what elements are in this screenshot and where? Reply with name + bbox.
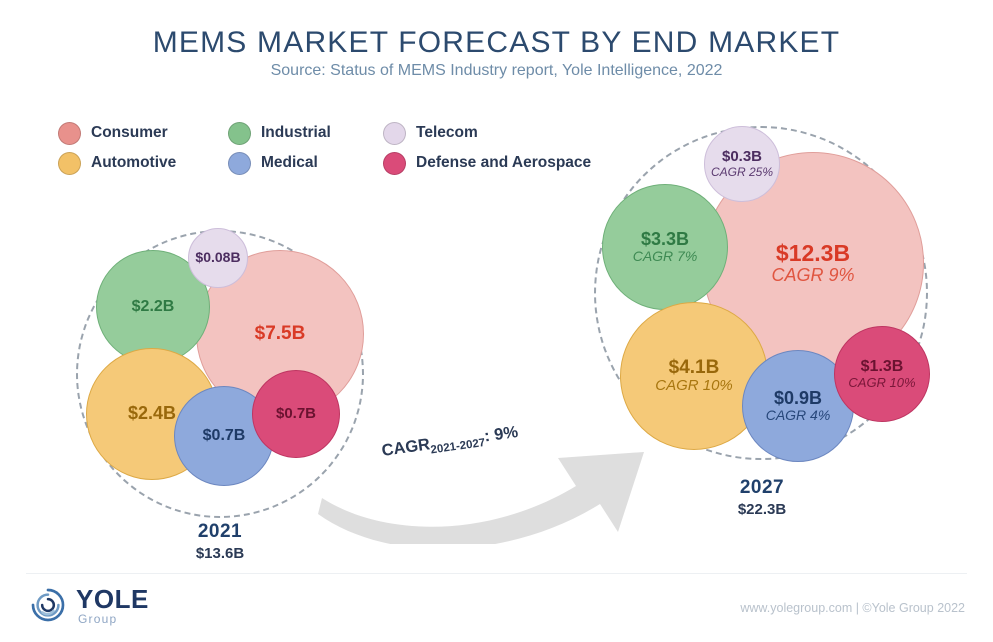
legend-label-consumer: Consumer xyxy=(91,124,168,142)
legend-label-telecom: Telecom xyxy=(416,124,478,142)
bubble-cagr-label: CAGR 9% xyxy=(771,266,854,285)
bubble-cagr-label: CAGR 25% xyxy=(711,166,773,179)
year-caption-2021: 2021 $13.6B xyxy=(130,521,310,562)
footer-divider xyxy=(26,573,967,574)
legend-item-telecom[interactable]: Telecom xyxy=(383,122,478,145)
bubble-cagr-label: CAGR 10% xyxy=(848,376,915,390)
yole-spiral-icon xyxy=(28,585,68,625)
bubble-value: $0.08B xyxy=(195,250,240,265)
infographic-canvas: MEMS MARKET FORECAST BY END MARKET Sourc… xyxy=(0,0,993,642)
year-total-2021: $13.6B xyxy=(130,545,310,562)
legend-swatch-industrial-icon xyxy=(228,122,251,145)
yole-logo-text: YOLE Group xyxy=(76,586,149,625)
legend-item-defense-and-aerospace[interactable]: Defense and Aerospace xyxy=(383,152,591,175)
bubble-2021-telecom[interactable]: $0.08B xyxy=(188,228,248,288)
legend-row-2: Automotive Medical Defense and Aerospace xyxy=(58,148,598,178)
legend-item-consumer[interactable]: Consumer xyxy=(58,122,228,145)
year-label-2021: 2021 xyxy=(130,521,310,543)
legend-row-1: Consumer Industrial Telecom xyxy=(58,118,598,148)
bubble-value: $7.5B xyxy=(255,324,306,345)
bubble-value: $2.2B xyxy=(132,298,175,315)
yole-logo-sub: Group xyxy=(78,613,149,625)
bubble-cagr-label: CAGR 10% xyxy=(655,378,733,394)
legend-item-industrial[interactable]: Industrial xyxy=(228,122,383,145)
bubble-value: $2.4B xyxy=(128,404,176,423)
legend-swatch-defense-icon xyxy=(383,152,406,175)
page-subtitle: Source: Status of MEMS Industry report, … xyxy=(0,62,993,80)
cagr-annotation-suffix: : 9% xyxy=(483,423,519,446)
bubble-cagr-label: CAGR 4% xyxy=(766,408,831,423)
bubble-cluster-2027: $12.3B CAGR 9% $3.3B CAGR 7% $4.1B CAGR … xyxy=(590,120,934,464)
legend-swatch-medical-icon xyxy=(228,152,251,175)
year-total-2027: $22.3B xyxy=(672,501,852,518)
legend-label-defense: Defense and Aerospace xyxy=(416,154,591,172)
yole-logo: YOLE Group xyxy=(28,585,149,625)
bubble-value: $0.3B xyxy=(722,149,762,165)
year-caption-2027: 2027 $22.3B xyxy=(672,477,852,518)
bubble-2027-defense[interactable]: $1.3B CAGR 10% xyxy=(834,326,930,422)
legend: Consumer Industrial Telecom Automotive M… xyxy=(58,118,598,178)
copyright-text: www.yolegroup.com | ©Yole Group 2022 xyxy=(740,601,965,615)
bubble-value: $1.3B xyxy=(861,358,904,375)
bubble-value: $3.3B xyxy=(641,230,689,249)
bubble-2027-industrial[interactable]: $3.3B CAGR 7% xyxy=(602,184,728,310)
legend-label-medical: Medical xyxy=(261,154,318,172)
bubble-value: $0.9B xyxy=(774,389,822,408)
legend-item-medical[interactable]: Medical xyxy=(228,152,383,175)
legend-swatch-telecom-icon xyxy=(383,122,406,145)
yole-logo-name: YOLE xyxy=(76,586,149,612)
year-label-2027: 2027 xyxy=(672,477,852,499)
page-title: MEMS MARKET FORECAST BY END MARKET xyxy=(0,26,993,60)
bubble-2027-telecom[interactable]: $0.3B CAGR 25% xyxy=(704,126,780,202)
legend-label-industrial: Industrial xyxy=(261,124,331,142)
legend-swatch-consumer-icon xyxy=(58,122,81,145)
legend-item-automotive[interactable]: Automotive xyxy=(58,152,228,175)
legend-swatch-automotive-icon xyxy=(58,152,81,175)
bubble-value: $12.3B xyxy=(776,241,850,266)
bubble-cagr-label: CAGR 7% xyxy=(633,249,698,264)
legend-label-automotive: Automotive xyxy=(91,154,176,172)
bubble-value: $0.7B xyxy=(203,427,246,444)
bubble-value: $0.7B xyxy=(276,406,316,422)
bubble-value: $4.1B xyxy=(669,358,720,379)
